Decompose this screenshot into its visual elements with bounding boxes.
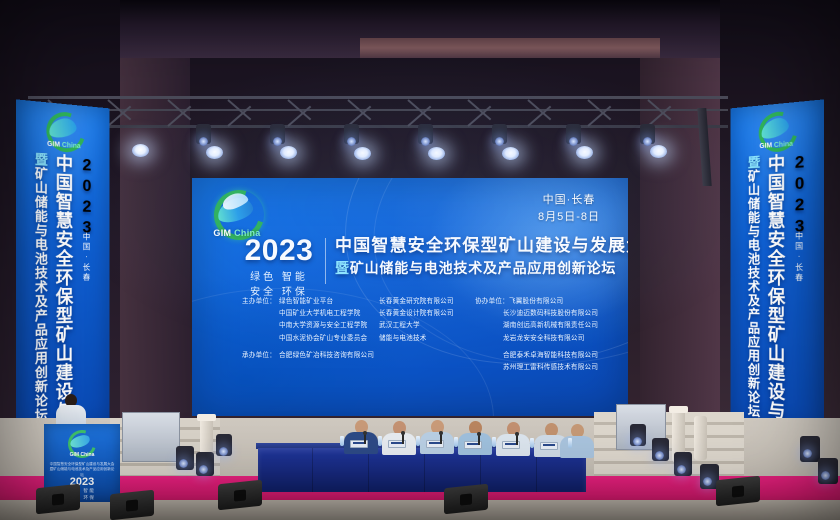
host-col1-item: 绿色智能矿业平台	[279, 296, 379, 308]
left-side-led-panel	[122, 412, 180, 462]
co-organizer-item: 苏州理工雷科传感技术有限公司	[475, 362, 618, 374]
floor-moving-light	[196, 452, 214, 476]
host-col1-item: 中国矿业大学机电工程学院	[279, 308, 379, 320]
par-light	[576, 146, 593, 159]
panelist-torso	[560, 436, 594, 458]
moving-head-light	[566, 124, 581, 144]
stage-monitor-speaker	[36, 484, 80, 515]
water-bottle	[454, 437, 458, 447]
table-microphone	[402, 434, 404, 444]
co-organizer-item: 龙岩龙安安全科技有限公司	[475, 333, 618, 345]
co-organizer-item: 湖南创远高新机械有限责任公司	[475, 320, 618, 332]
co-organizer-label: 协办单位：	[475, 298, 509, 305]
screen-dates: 8月5日-8日	[510, 209, 628, 226]
banner-title-sub-wrap: 暨矿山储能与电池技术及产品应用创新论坛	[744, 155, 762, 429]
host-col2-item: 长春黄金研究院有限公司	[379, 296, 475, 308]
podium-speaker-person	[56, 394, 86, 428]
water-bottle	[378, 436, 382, 446]
spacer	[224, 362, 279, 374]
name-plate	[540, 442, 558, 450]
undertaker-label: 承办单位：	[224, 350, 279, 362]
par-light	[354, 147, 371, 160]
banner-text-columns-right: 2023 中国·长春 中国智慧安全环保型矿山建设与发展大会 暨矿山储能与电池技术…	[731, 151, 824, 435]
floor-moving-light	[630, 424, 646, 446]
spacer	[224, 320, 279, 332]
floor-moving-light	[674, 452, 692, 476]
water-bottle	[416, 436, 420, 446]
par-light	[502, 147, 519, 160]
floor-moving-light	[216, 434, 232, 456]
organizer-row: 中南大学资源与安全工程学院 武汉工程大学 湖南创远高新机械有限责任公司	[224, 320, 618, 332]
ceiling-beam	[360, 38, 660, 60]
table-microphone	[516, 435, 518, 445]
screen-title-divider	[325, 238, 326, 284]
screen-year-block: 2023 绿色 智能 安全 环保	[236, 236, 322, 300]
co-organizer-item: 长沙迪迈数码科技股份有限公司	[475, 308, 618, 320]
panelist	[560, 424, 594, 456]
conference-stage-photo: ノMW∧VJ рпюлкизвднк [∑	[0, 0, 840, 520]
moving-head-light	[418, 124, 433, 144]
par-light	[280, 146, 297, 159]
spacer	[224, 333, 279, 345]
screen-title-sub: 矿山储能与电池技术及产品应用创新论坛	[350, 260, 616, 276]
host-col2-item: 长春黄金设计院有限公司	[379, 308, 475, 320]
moving-head-light	[640, 124, 655, 144]
host-label: 主办单位：	[224, 296, 279, 308]
panelist	[382, 421, 416, 453]
main-led-screen: GIM China 中国·长春 8月5日-8日 2023 绿色 智能 安全 环保…	[192, 178, 628, 416]
organizer-row: 承办单位： 合肥绿色矿冶科技咨询有限公司 合肥泰禾卓海智能科技有限公司	[224, 350, 618, 362]
banner-year: 2023	[789, 152, 809, 230]
banner-year-loc-right: 2023 中国·长春	[789, 152, 809, 433]
logo-wordmark-prefix: GIM	[213, 228, 231, 238]
screen-location: 中国·长春	[510, 192, 628, 209]
panelist	[496, 422, 530, 454]
balustrade-cap	[197, 414, 216, 421]
stage-monitor-speaker	[110, 490, 154, 520]
banner-title-sub-prefix: 暨	[746, 155, 760, 170]
stage-monitor-speaker	[716, 476, 760, 507]
screen-year: 2023	[236, 236, 322, 266]
organizer-row: 中国矿业大学机电工程学院 长春黄金设计院有限公司 长沙迪迈数码科技股份有限公司	[224, 308, 618, 320]
co-organizer-item: 合肥泰禾卓海智能科技有限公司	[475, 350, 618, 362]
par-light	[132, 144, 149, 157]
logo-prefix: GIM	[759, 142, 772, 150]
banner-title-sub: 矿山储能与电池技术及产品应用创新论坛	[33, 166, 48, 423]
table-microphone	[364, 434, 366, 444]
banner-year: 2023	[77, 155, 96, 231]
table-microphone	[478, 435, 480, 445]
screen-title-sub-prefix: 暨	[335, 260, 350, 276]
organizer-row: 苏州理工雷科传感技术有限公司	[224, 362, 618, 374]
logo-prefix: GIM	[47, 141, 60, 149]
stage-monitor-speaker	[218, 480, 262, 511]
screen-title-block: 中国智慧安全环保型矿山建设与发展大会 暨矿山储能与电池技术及产品应用创新论坛	[335, 236, 617, 277]
logo-suffix: China	[772, 141, 793, 150]
water-bottle	[492, 437, 496, 447]
par-light	[650, 145, 667, 158]
right-vertical-banner: GIM China 2023 中国·长春 中国智慧安全环保型矿山建设与发展大会 …	[731, 99, 824, 434]
banner-title-sub: 矿山储能与电池技术及产品应用创新论坛	[746, 169, 760, 419]
banner-year-loc-left: 2023 中国·长春	[77, 155, 96, 429]
water-bottle	[530, 438, 534, 448]
floor-moving-light	[652, 438, 669, 461]
moving-head-light	[196, 124, 211, 144]
banner-location: 中国·长春	[794, 231, 805, 283]
banner-logo-right: GIM China	[754, 110, 799, 152]
moving-head-light	[344, 124, 359, 144]
balustrade-cap	[669, 406, 688, 413]
water-bottle	[340, 436, 344, 446]
lighting-truss	[28, 96, 728, 128]
podium-logo-wordmark: GIM China	[44, 452, 120, 458]
undertaker-value: 合肥绿色矿冶科技咨询有限公司	[279, 350, 475, 362]
spacer	[279, 362, 475, 374]
moving-head-light	[270, 124, 285, 144]
logo-suffix: China	[60, 142, 81, 150]
screen-location-date: 中国·长春 8月5日-8日	[510, 192, 628, 226]
spacer	[224, 308, 279, 320]
screen-slogan-line1: 绿色 智能	[236, 270, 322, 285]
host-col2-item: 储能与电池技术	[379, 333, 475, 345]
moving-head-light	[492, 124, 507, 144]
screen-title-main: 中国智慧安全环保型矿山建设与发展大会	[335, 236, 617, 256]
banner-logo-left: GIM China	[41, 110, 86, 152]
screen-title-sub-wrap: 暨矿山储能与电池技术及产品应用创新论坛	[335, 260, 617, 277]
par-light	[206, 146, 223, 159]
organizer-row: 主办单位： 绿色智能矿业平台 长春黄金研究院有限公司 协办单位：飞翼股份有限公司	[224, 296, 618, 308]
left-vertical-banner: GIM China 2023 中国·长春 中国智慧安全环保型矿山建设与发展大会 …	[16, 99, 109, 434]
floor-moving-light	[176, 446, 194, 470]
banner-title-main: 中国智慧安全环保型矿山建设与发展大会	[51, 153, 76, 431]
table-microphone	[440, 434, 442, 444]
banner-title-sub-prefix: 暨	[33, 152, 48, 167]
host-col1-item: 中国水泥协会矿山专业委员会	[279, 333, 379, 345]
host-col2-item: 武汉工程大学	[379, 320, 475, 332]
co-organizer-first: 协办单位：飞翼股份有限公司	[475, 296, 618, 308]
water-bottle	[568, 438, 572, 448]
banner-title-main: 中国智慧安全环保型矿山建设与发展大会	[763, 153, 788, 431]
par-light	[428, 147, 445, 160]
floor-moving-light	[818, 458, 838, 484]
banner-text-columns-left: 2023 中国·长春 中国智慧安全环保型矿山建设与发展大会 暨矿山储能与电池技术…	[16, 151, 109, 435]
host-col1-item: 中南大学资源与安全工程学院	[279, 320, 379, 332]
gim-china-logo: GIM China	[208, 190, 266, 238]
floor-moving-light	[800, 436, 820, 462]
stage-monitor-speaker	[444, 484, 488, 515]
organizer-row: 中国水泥协会矿山专业委员会 储能与电池技术 龙岩龙安安全科技有限公司	[224, 333, 618, 345]
balustrade-post	[694, 416, 707, 460]
screen-organizers: 主办单位： 绿色智能矿业平台 长春黄金研究院有限公司 协办单位：飞翼股份有限公司…	[224, 296, 618, 374]
banner-location: 中国·长春	[81, 232, 91, 282]
co-organizer-item: 飞翼股份有限公司	[509, 298, 563, 305]
banner-title-sub-wrap: 暨矿山储能与电池技术及产品应用创新论坛	[31, 152, 50, 433]
